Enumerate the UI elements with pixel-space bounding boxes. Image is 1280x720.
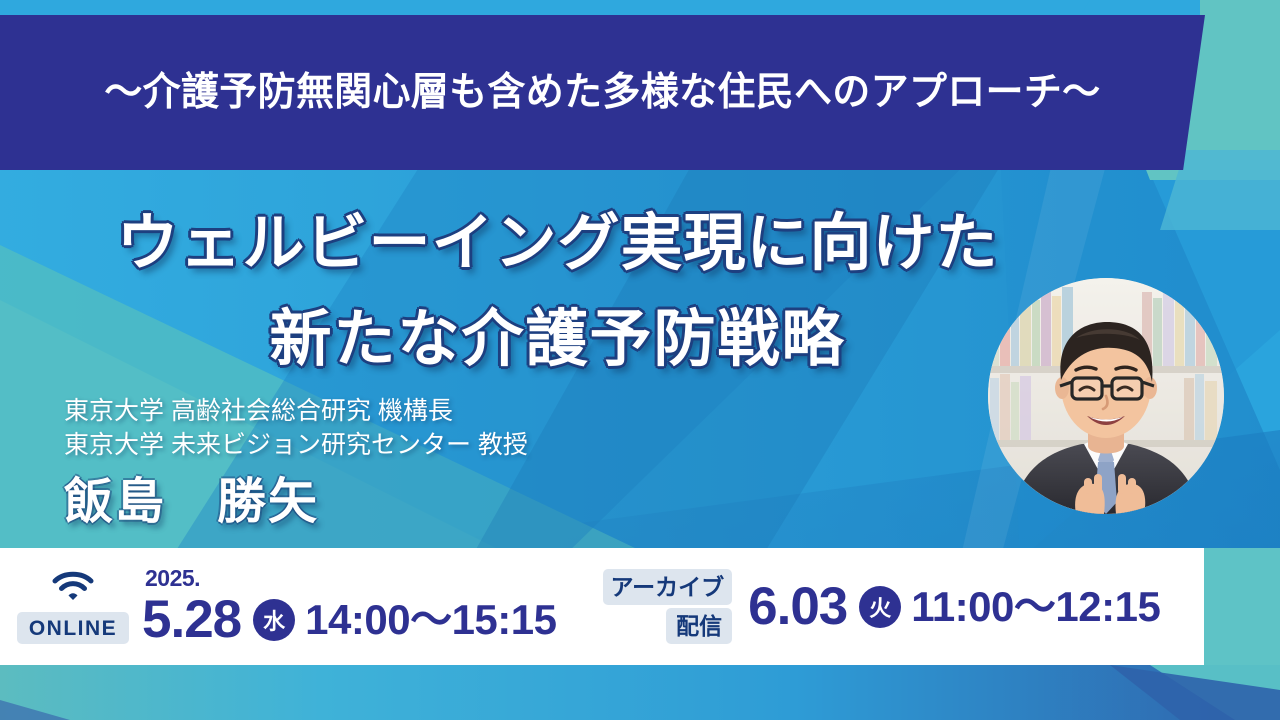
- live-date-row: 5.28 水 14:00〜15:15: [142, 593, 557, 646]
- banner-subtitle: 〜介護予防無関心層も含めた多様な住民へのアプローチ〜: [104, 73, 1100, 112]
- online-group: ONLINE: [14, 570, 132, 644]
- seminar-poster: 〜介護予防無関心層も含めた多様な住民へのアプローチ〜 ウェルビーイング実現に向け…: [0, 0, 1280, 720]
- portrait-illustration: [988, 278, 1224, 514]
- schedule-info-bar: ONLINE 2025. 5.28 水 14:00〜15:15 アーカイブ 配信…: [0, 548, 1204, 665]
- wifi-icon-svg: [51, 570, 95, 602]
- archive-chip-1: アーカイブ: [603, 569, 733, 605]
- speaker-name: 飯島 勝矢: [64, 478, 528, 527]
- archive-badges: アーカイブ 配信: [603, 569, 733, 644]
- live-year: 2025.: [145, 567, 557, 590]
- live-date: 5.28: [142, 593, 241, 646]
- archive-date: 6.03: [748, 580, 847, 633]
- archive-day-of-week-badge: 火: [859, 586, 901, 628]
- archive-time: 11:00〜12:15: [911, 586, 1160, 628]
- title-line-1: ウェルビーイング実現に向けた: [0, 196, 1115, 292]
- top-banner: 〜介護予防無関心層も含めた多様な住民へのアプローチ〜: [0, 15, 1205, 170]
- title-line-2: 新たな介護予防戦略: [0, 292, 1115, 388]
- speaker-portrait: [988, 278, 1224, 514]
- online-badge: ONLINE: [17, 612, 129, 644]
- speaker-affiliation-2: 東京大学 未来ビジョン研究センター 教授: [64, 428, 528, 462]
- wifi-icon: [51, 570, 95, 607]
- main-title: ウェルビーイング実現に向けた 新たな介護予防戦略: [0, 196, 1115, 388]
- live-schedule: 2025. 5.28 水 14:00〜15:15: [142, 567, 557, 646]
- speaker-info: 東京大学 高齢社会総合研究 機構長 東京大学 未来ビジョン研究センター 教授 飯…: [64, 394, 528, 527]
- archive-schedule: アーカイブ 配信 6.03 火 11:00〜12:15: [603, 569, 1161, 644]
- speaker-affiliation-1: 東京大学 高齢社会総合研究 機構長: [64, 394, 528, 428]
- archive-date-row: 6.03 火 11:00〜12:15: [748, 580, 1160, 633]
- live-day-of-week-badge: 水: [253, 599, 295, 641]
- archive-chip-2: 配信: [666, 608, 732, 644]
- live-time: 14:00〜15:15: [305, 599, 556, 641]
